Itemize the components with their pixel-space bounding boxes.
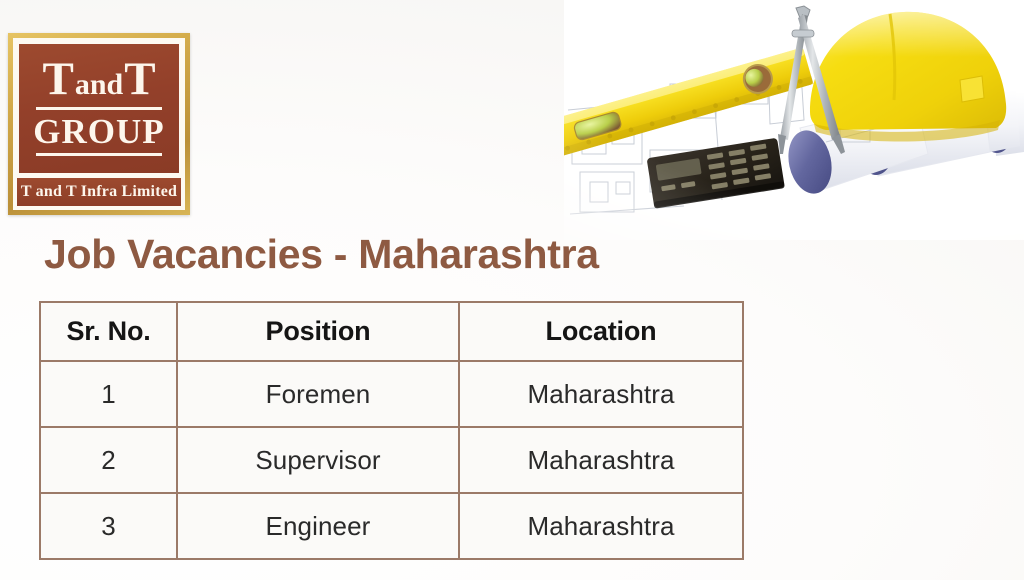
column-header-sr-no: Sr. No.: [40, 302, 177, 361]
cell-location: Maharashtra: [459, 427, 743, 493]
construction-tools-photo: [564, 0, 1024, 240]
logo-wordmark-group: GROUP: [33, 114, 164, 149]
vacancy-table: Sr. No. Position Location 1 Foremen Maha…: [39, 301, 744, 560]
logo-divider-top: [36, 107, 162, 110]
cell-sr-no: 3: [40, 493, 177, 559]
cell-sr-no: 2: [40, 427, 177, 493]
logo-letter-t1: T: [42, 57, 73, 102]
column-header-location: Location: [459, 302, 743, 361]
logo-divider-bottom: [36, 153, 162, 156]
logo-letter-t2: T: [124, 57, 155, 102]
page-title: Job Vacancies - Maharashtra: [44, 231, 599, 278]
cell-position: Supervisor: [177, 427, 459, 493]
table-row: 2 Supervisor Maharashtra: [40, 427, 743, 493]
table-header-row: Sr. No. Position Location: [40, 302, 743, 361]
table-row: 1 Foremen Maharashtra: [40, 361, 743, 427]
cell-position: Engineer: [177, 493, 459, 559]
logo-word-and: and: [74, 71, 124, 100]
cell-position: Foremen: [177, 361, 459, 427]
logo-inner-frame: TandT GROUP T and T Infra Limited: [13, 38, 185, 210]
poster-canvas: TandT GROUP T and T Infra Limited Job Va…: [0, 0, 1024, 580]
company-logo: TandT GROUP T and T Infra Limited: [8, 33, 190, 215]
table-row: 3 Engineer Maharashtra: [40, 493, 743, 559]
vacancy-table-wrapper: Sr. No. Position Location 1 Foremen Maha…: [39, 301, 742, 560]
cell-location: Maharashtra: [459, 493, 743, 559]
column-header-position: Position: [177, 302, 459, 361]
logo-wordmark-line1: TandT: [42, 57, 155, 102]
logo-legal-name-text: T and T Infra Limited: [21, 183, 177, 201]
cell-sr-no: 1: [40, 361, 177, 427]
cell-location: Maharashtra: [459, 361, 743, 427]
logo-legal-name-banner: T and T Infra Limited: [17, 178, 181, 206]
logo-panel: TandT GROUP: [17, 42, 181, 175]
